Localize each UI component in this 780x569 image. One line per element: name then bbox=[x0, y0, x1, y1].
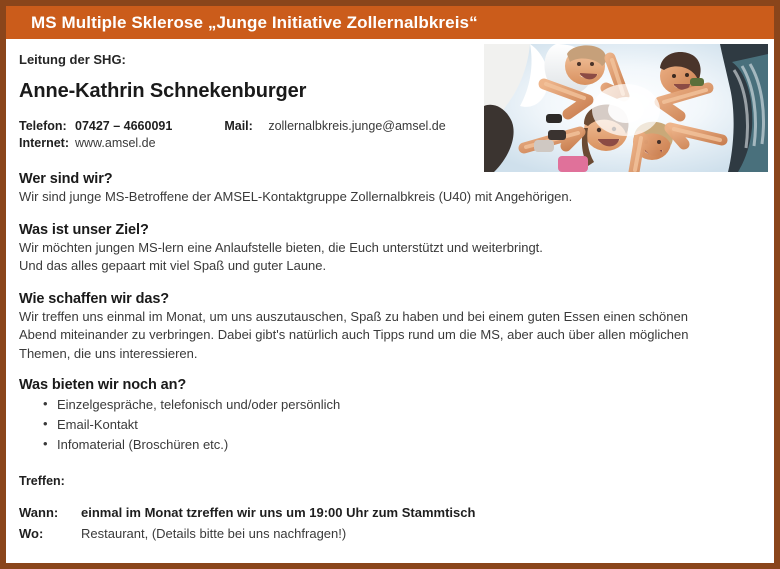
flyer-page: MS Multiple Sklerose „Junge Initiative Z… bbox=[0, 0, 780, 569]
section-heading-was-ist-unser-ziel: Was ist unser Ziel? bbox=[19, 222, 774, 238]
phone-value: 07427 – 4660091 bbox=[75, 118, 172, 135]
contact-row-internet: Internet: www.amsel.de bbox=[19, 135, 774, 152]
flyer-content: Leitung der SHG: Anne-Kathrin Schnekenbu… bbox=[6, 39, 774, 563]
meeting-where-value: Restaurant, (Details bitte bei uns nachf… bbox=[81, 524, 346, 544]
contact-block: Telefon: 07427 – 4660091 Mail: zollernal… bbox=[19, 118, 774, 152]
section-line: Abend miteinander zu verbringen. Dabei g… bbox=[19, 327, 688, 342]
mail-value[interactable]: zollernalbkreis.junge@amsel.de bbox=[268, 118, 445, 135]
lead-label: Leitung der SHG: bbox=[19, 52, 774, 67]
section-body-wie-schaffen-wir-das: Wir treffen uns einmal im Monat, um uns … bbox=[19, 308, 754, 364]
section-heading-wer-sind-wir: Wer sind wir? bbox=[19, 171, 774, 187]
section-line: Wir treffen uns einmal im Monat, um uns … bbox=[19, 309, 688, 324]
meeting-when-value: einmal im Monat tzreffen wir uns um 19:0… bbox=[81, 503, 475, 523]
contact-row-phone-mail: Telefon: 07427 – 4660091 Mail: zollernal… bbox=[19, 118, 774, 135]
section-line: Und das alles gepaart mit viel Spaß und … bbox=[19, 258, 326, 273]
section-body-was-ist-unser-ziel: Wir möchten jungen MS-lern eine Anlaufst… bbox=[19, 239, 754, 276]
section-body-wer-sind-wir: Wir sind junge MS-Betroffene der AMSEL-K… bbox=[19, 188, 754, 207]
list-item: Einzelgespräche, telefonisch und/oder pe… bbox=[57, 395, 774, 415]
mail-label: Mail: bbox=[224, 118, 268, 135]
list-item: Email-Kontakt bbox=[57, 415, 774, 435]
offers-list: Einzelgespräche, telefonisch und/oder pe… bbox=[19, 395, 774, 455]
internet-label: Internet: bbox=[19, 135, 75, 152]
list-item: Infomaterial (Broschüren etc.) bbox=[57, 435, 774, 455]
meeting-when-label: Wann: bbox=[19, 503, 81, 523]
meeting-row-when: Wann: einmal im Monat tzreffen wir uns u… bbox=[19, 503, 774, 523]
section-line: Wir sind junge MS-Betroffene der AMSEL-K… bbox=[19, 189, 572, 204]
section-line: Wir möchten jungen MS-lern eine Anlaufst… bbox=[19, 240, 543, 255]
meeting-where-label: Wo: bbox=[19, 524, 81, 544]
meeting-title: Treffen: bbox=[19, 474, 774, 488]
meeting-row-where: Wo: Restaurant, (Details bitte bei uns n… bbox=[19, 524, 774, 544]
section-heading-was-bieten-wir-noch-an: Was bieten wir noch an? bbox=[19, 377, 774, 393]
phone-label: Telefon: bbox=[19, 118, 75, 135]
section-heading-wie-schaffen-wir-das: Wie schaffen wir das? bbox=[19, 291, 774, 307]
page-title: MS Multiple Sklerose „Junge Initiative Z… bbox=[0, 13, 478, 33]
internet-value[interactable]: www.amsel.de bbox=[75, 135, 156, 152]
section-line: Themen, die uns interessieren. bbox=[19, 346, 197, 361]
header-bar: MS Multiple Sklerose „Junge Initiative Z… bbox=[0, 6, 780, 39]
leader-name: Anne-Kathrin Schnekenburger bbox=[19, 80, 774, 103]
